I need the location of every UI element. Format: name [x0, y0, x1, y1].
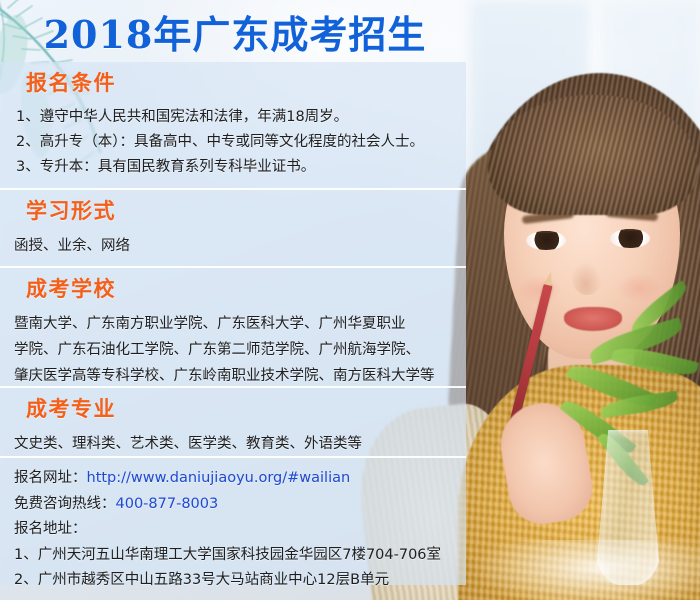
section-conditions: 报名条件 1、遵守中华人民共和国宪法和法律，年满18周岁。 2、高升专（本）：具…: [0, 62, 466, 188]
hotline-label: 免费咨询热线：: [14, 496, 116, 512]
section-heading-study-form: 学习形式: [26, 201, 466, 222]
major-line: 文史类、理科类、艺术类、医学类、教育类、外语类等: [14, 432, 466, 457]
section-study-form: 学习形式 函授、业余、网络: [0, 188, 466, 266]
school-line: 暨南大学、广东南方职业学院、广东医科大学、广州华夏职业: [14, 311, 466, 337]
hotline-number[interactable]: 400-877-8003: [116, 496, 219, 512]
condition-line: 3、专升本：具有国民教育系列专科毕业证书。: [16, 155, 466, 180]
table-highlight: [470, 540, 700, 600]
page-title: 2018年广东成考招生: [0, 4, 470, 58]
info-panel: 报名条件 1、遵守中华人民共和国宪法和法律，年满18周岁。 2、高升专（本）：具…: [0, 62, 466, 585]
cheek: [616, 273, 662, 303]
hotline-row: 免费咨询热线：400-877-8003: [14, 492, 466, 518]
section-heading-majors: 成考专业: [26, 399, 466, 420]
section-heading-conditions: 报名条件: [26, 73, 466, 94]
section-majors: 成考专业 文史类、理科类、艺术类、医学类、教育类、外语类等: [0, 386, 466, 456]
section-heading-schools: 成考学校: [26, 279, 466, 300]
condition-line: 2、高升专（本）：具备高中、中专或同等文化程度的社会人士。: [16, 130, 466, 155]
poster-canvas: 2018年广东成考招生 报名条件 1、遵守中华人民共和国宪法和法律，年满18周岁…: [0, 0, 700, 600]
website-row: 报名网址：http://www.daniujiaoyu.org/#wailian: [14, 466, 466, 492]
section-contact: 报名网址：http://www.daniujiaoyu.org/#wailian…: [0, 456, 466, 583]
address-line: 2、广州市越秀区中山五路33号大马站商业中心12层B单元: [14, 568, 466, 594]
eye: [526, 231, 566, 250]
section-schools: 成考学校 暨南大学、广东南方职业学院、广东医科大学、广州华夏职业 学院、广东石油…: [0, 266, 466, 386]
nose: [572, 261, 602, 295]
school-line: 学院、广东石油化工学院、广东第二师范学院、广州航海学院、: [14, 337, 466, 363]
condition-line: 1、遵守中华人民共和国宪法和法律，年满18周岁。: [16, 105, 466, 130]
address-label: 报名地址：: [14, 517, 466, 543]
website-link[interactable]: http://www.daniujiaoyu.org/#wailian: [87, 470, 351, 486]
eye: [610, 229, 650, 248]
study-form-line: 函授、业余、网络: [14, 234, 466, 259]
lips: [564, 307, 622, 331]
address-line: 1、广州天河五山华南理工大学国家科技园金华园区7楼704-706室: [14, 543, 466, 569]
website-label: 报名网址：: [14, 470, 87, 486]
